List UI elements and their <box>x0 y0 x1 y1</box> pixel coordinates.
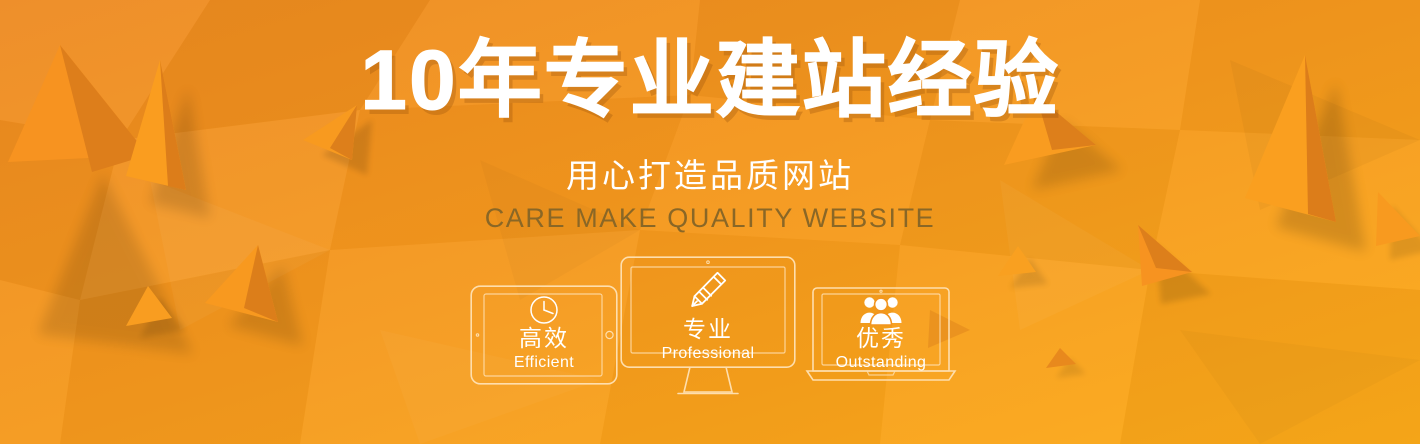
feature-devices: 高效 Efficient <box>0 0 1420 444</box>
clock-icon <box>523 295 565 325</box>
feature-label-cn-efficient: 高效 <box>470 327 618 350</box>
feature-label-en-professional: Professional <box>620 346 796 362</box>
pencil-icon <box>686 268 730 312</box>
feature-label-en-outstanding: Outstanding <box>805 355 957 371</box>
feature-label-cn-professional: 专业 <box>620 318 796 341</box>
feature-card-outstanding: 优秀 Outstanding <box>805 285 957 385</box>
feature-label-en-efficient: Efficient <box>470 355 618 371</box>
feature-card-efficient: 高效 Efficient <box>470 285 618 385</box>
feature-card-professional: 专业 Professional <box>620 256 796 398</box>
promo-banner: 10年专业建站经验 用心打造品质网站 CARE MAKE QUALITY WEB… <box>0 0 1420 444</box>
feature-label-cn-outstanding: 优秀 <box>805 327 957 350</box>
people-group-icon <box>859 294 903 326</box>
